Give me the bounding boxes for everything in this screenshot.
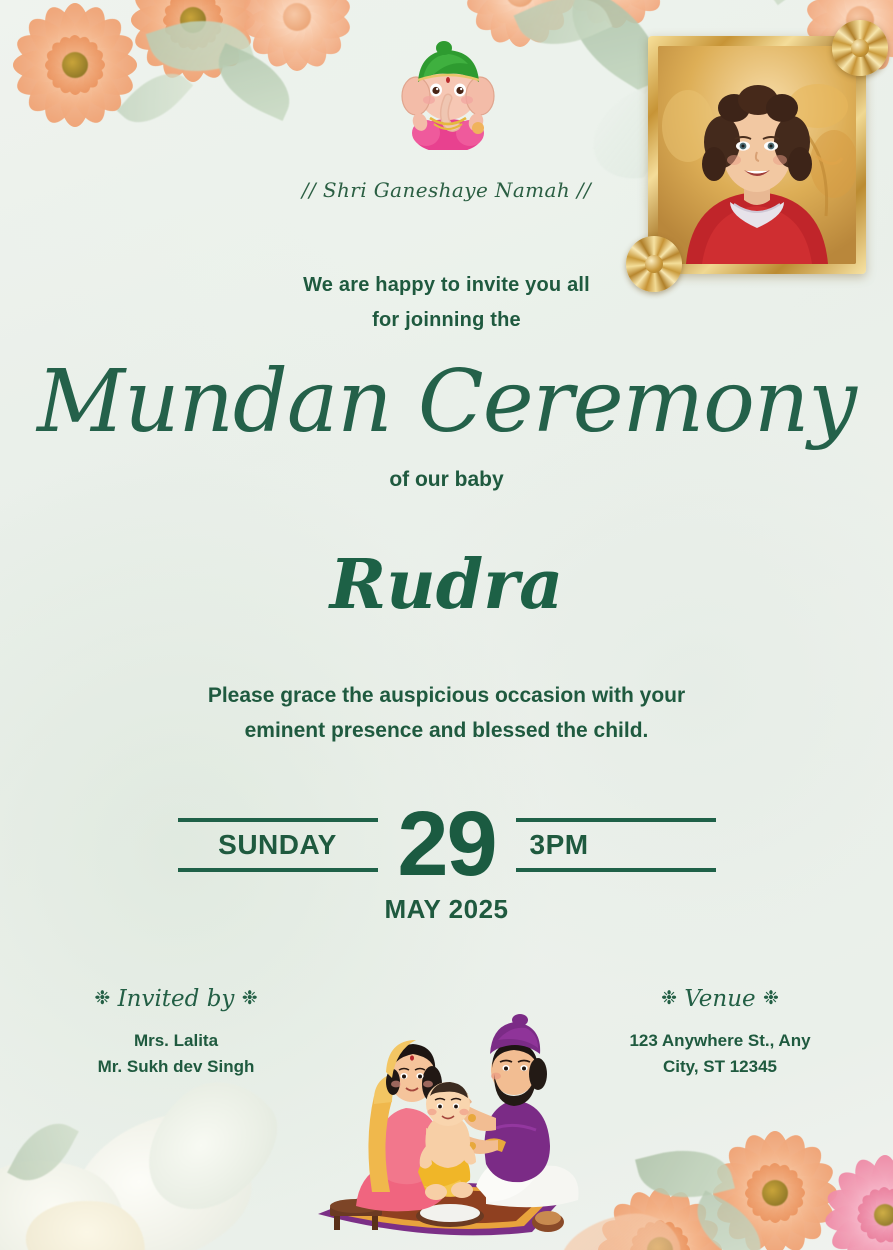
baby-name: Rudra	[0, 545, 893, 625]
event-day-box: 29 MAY 2025	[372, 800, 522, 925]
of-our-baby-label: of our baby	[0, 468, 893, 492]
event-weekday-box: SUNDAY	[178, 818, 378, 872]
ceremony-title: Mundan Ceremony	[0, 352, 893, 452]
flower-star-icon-left: ❉	[94, 987, 110, 1009]
flower-star-icon-venue-right: ❉	[763, 987, 779, 1009]
venue-section: ❉ Venue ❉ 123 Anywhere St., Any City, ST…	[600, 986, 840, 1080]
invited-by-heading: ❉ Invited by ❉	[56, 986, 296, 1012]
invitation-intro: We are happy to invite you all for joinn…	[0, 268, 893, 338]
invited-by-names: Mrs. Lalita Mr. Sukh dev Singh	[56, 1028, 296, 1080]
invited-by-heading-text: Invited by	[118, 986, 235, 1012]
mantra-text: // Shri Ganeshaye Namah //	[0, 178, 893, 202]
event-weekday: SUNDAY	[178, 827, 378, 863]
flower-star-icon-venue-left: ❉	[661, 987, 677, 1009]
event-day: 29	[372, 800, 522, 888]
event-date-block: SUNDAY 29 MAY 2025 3PM	[0, 818, 893, 943]
event-month-year: MAY 2025	[372, 894, 522, 925]
event-time: 3PM	[530, 827, 716, 863]
gold-rosette-icon-top	[832, 20, 888, 76]
blessing-line1: Please grace the auspicious occasion wit…	[0, 678, 893, 713]
child-photo	[658, 46, 856, 264]
invited-by-section: ❉ Invited by ❉ Mrs. Lalita Mr. Sukh dev …	[56, 986, 296, 1080]
venue-heading-text: Venue	[684, 986, 755, 1012]
invitation-card: // Shri Ganeshaye Namah // We are happy …	[0, 0, 893, 1250]
venue-address-line2: City, ST 12345	[600, 1054, 840, 1080]
blessing-text: Please grace the auspicious occasion wit…	[0, 678, 893, 748]
venue-heading: ❉ Venue ❉	[600, 986, 840, 1012]
ganesha-icon	[398, 30, 498, 150]
venue-address: 123 Anywhere St., Any City, ST 12345	[600, 1028, 840, 1080]
event-time-box: 3PM	[516, 818, 716, 872]
blessing-line2: eminent presence and blessed the child.	[0, 713, 893, 748]
inviter-name-1: Mrs. Lalita	[56, 1028, 296, 1054]
inviter-name-2: Mr. Sukh dev Singh	[56, 1054, 296, 1080]
invitation-intro-line1: We are happy to invite you all	[0, 268, 893, 303]
invitation-intro-line2: for joinning the	[0, 303, 893, 338]
mundan-family-illustration	[300, 1000, 600, 1250]
child-photo-frame	[648, 36, 866, 274]
venue-address-line1: 123 Anywhere St., Any	[600, 1028, 840, 1054]
flower-star-icon-right: ❉	[242, 987, 258, 1009]
